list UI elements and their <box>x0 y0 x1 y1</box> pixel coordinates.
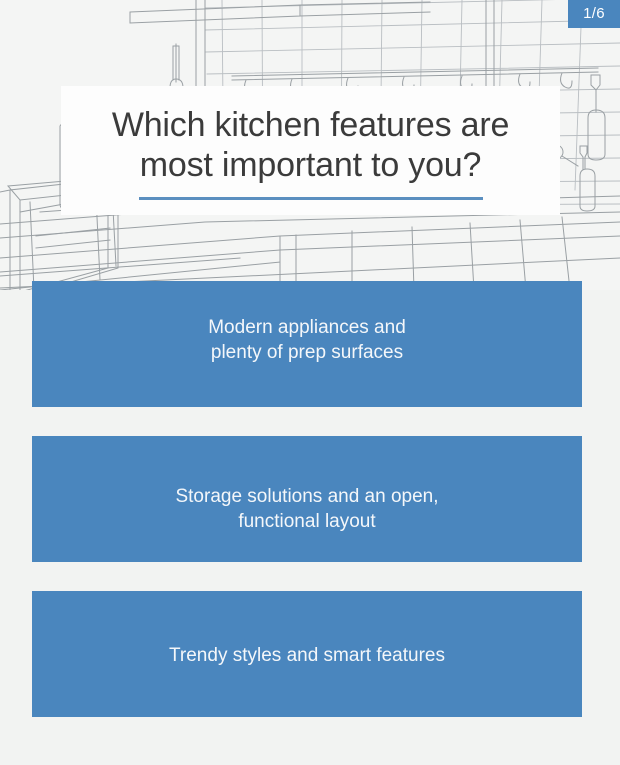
answer-option-3-label: Trendy styles and smart features <box>32 643 582 668</box>
page-title: Which kitchen features are most importan… <box>61 105 560 185</box>
answer-option-1-label: Modern appliances and plenty of prep sur… <box>32 315 582 365</box>
answer-option-2[interactable]: Storage solutions and an open, functiona… <box>32 436 582 562</box>
answer-option-1[interactable]: Modern appliances and plenty of prep sur… <box>32 281 582 407</box>
answer-options-list: Modern appliances and plenty of prep sur… <box>32 281 582 717</box>
quiz-screen: 1/6 Which kitchen features are most impo… <box>0 0 620 765</box>
progress-badge: 1/6 <box>568 0 620 28</box>
answer-option-3[interactable]: Trendy styles and smart features <box>32 591 582 717</box>
title-underline-accent <box>139 197 483 200</box>
question-card: Which kitchen features are most importan… <box>61 86 560 215</box>
answer-option-2-label: Storage solutions and an open, functiona… <box>32 484 582 534</box>
